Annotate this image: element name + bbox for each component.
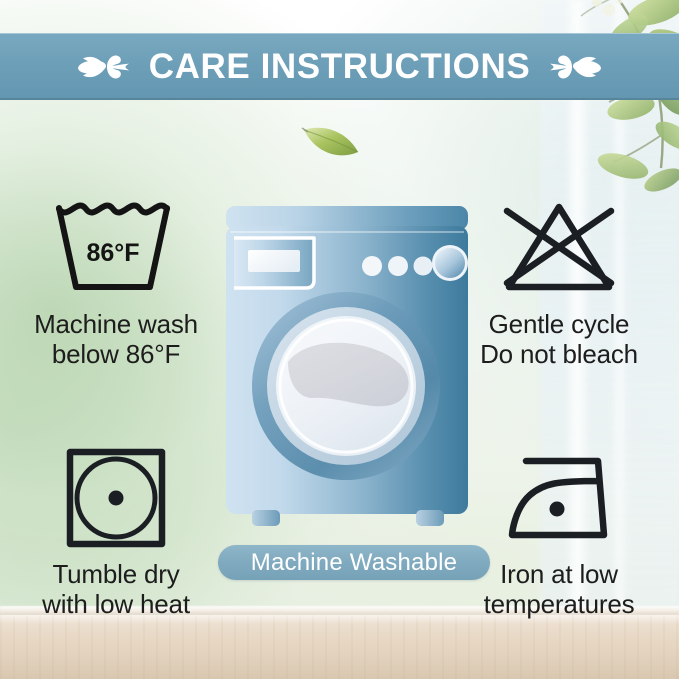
care-symbol-iron-low: Iron at low temperatures [455,442,663,619]
tumble-dry-square-icon [12,442,220,554]
badge-label: Machine Washable [251,551,457,575]
care-symbol-tumble-dry: Tumble dry with low heat [12,442,220,619]
caption-line-1: Tumble dry [12,560,220,590]
wash-temperature-value: 86°F [86,239,139,267]
triangle-crossed-icon [455,192,663,304]
caption-line-2: Do not bleach [455,340,663,370]
care-symbol-caption: Tumble dry with low heat [12,560,220,619]
care-symbol-gentle-no-bleach: Gentle cycle Do not bleach [455,192,663,369]
page-title: CARE INSTRUCTIONS [149,49,531,84]
caption-line-2: with low heat [12,590,220,620]
header-banner: CARE INSTRUCTIONS [0,33,679,100]
foliage-branch [557,0,679,201]
iron-heat-dot [550,502,565,517]
tumble-dry-heat-dot [109,491,124,506]
caption-line-2: below 86°F [12,340,220,370]
washing-machine-illustration [222,206,472,536]
wooden-table-surface [0,615,679,679]
caption-line-1: Gentle cycle [455,310,663,340]
care-instructions-graphic: CARE INSTRUCTIONS 86°F [0,0,679,679]
care-symbol-machine-wash: 86°F Machine wash below 86°F [12,192,220,369]
wash-tub-icon: 86°F [12,192,220,304]
fleur-de-lis-icon-right [548,46,602,88]
floating-green-leaf [300,120,362,162]
machine-washable-badge: Machine Washable [218,545,490,580]
caption-line-1: Machine wash [12,310,220,340]
caption-line-2: temperatures [455,590,663,620]
fleur-de-lis-icon-left [77,46,131,88]
iron-one-dot-icon [455,442,663,554]
care-symbol-caption: Machine wash below 86°F [12,310,220,369]
care-symbol-caption: Gentle cycle Do not bleach [455,310,663,369]
